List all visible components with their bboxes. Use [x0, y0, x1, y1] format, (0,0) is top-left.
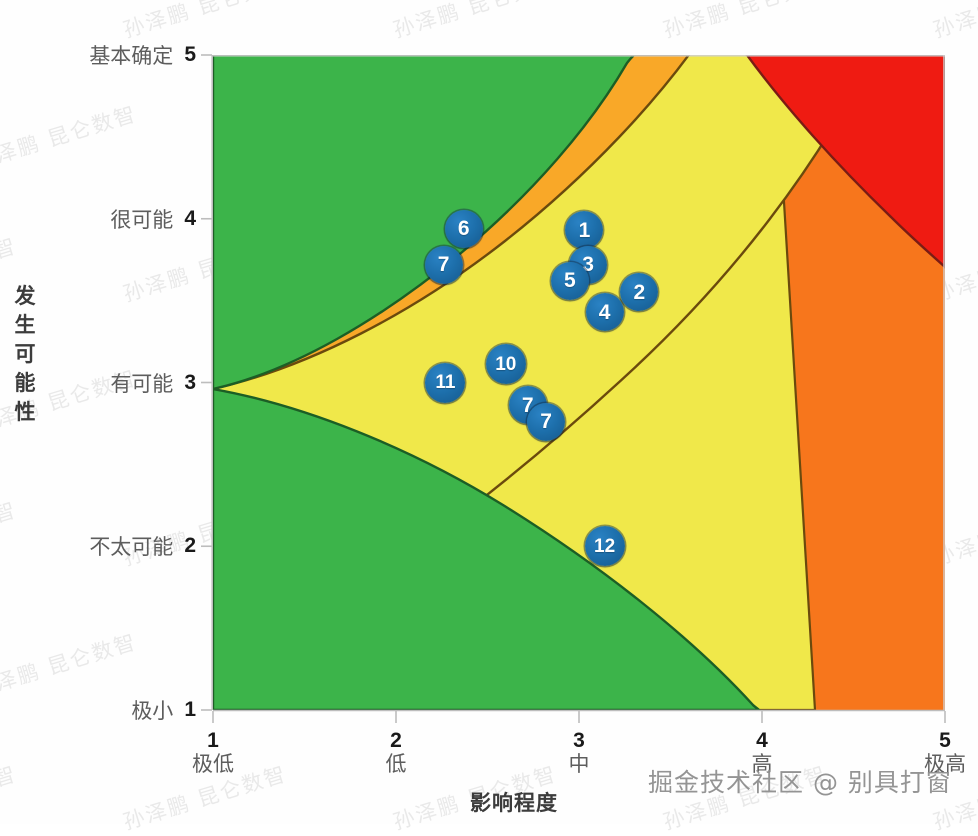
data-point-marker[interactable]: 5 — [551, 262, 589, 300]
x-tick-label-number: 1 — [143, 729, 283, 753]
risk-matrix-chart: 孙泽鹏 昆仑数智孙泽鹏 昆仑数智孙泽鹏 昆仑数智孙泽鹏 昆仑数智孙泽鹏 昆仑数智… — [0, 0, 978, 824]
data-point-marker[interactable]: 12 — [585, 526, 625, 566]
x-axis-tick-1: 1极低 — [143, 729, 283, 776]
x-tick-label-text: 极低 — [143, 753, 283, 777]
x-tick-label-text: 低 — [326, 753, 466, 777]
data-point-marker[interactable]: 6 — [445, 210, 483, 248]
x-axis-tick-2: 2低 — [326, 729, 466, 776]
data-point-marker[interactable]: 4 — [586, 293, 624, 331]
x-axis-tick-3: 3中 — [509, 729, 649, 776]
x-tick-label-text: 中 — [509, 753, 649, 777]
x-axis-title: 影响程度 — [470, 787, 558, 817]
x-tick-label-number: 2 — [326, 729, 466, 753]
data-point-marker[interactable]: 11 — [425, 363, 465, 403]
data-point-marker[interactable]: 7 — [425, 246, 463, 284]
credit-watermark: 掘金技术社区 @ 别具打窗 — [648, 763, 952, 799]
x-tick-label-number: 5 — [875, 729, 978, 753]
x-tick-label-number: 3 — [509, 729, 649, 753]
x-tick-label-number: 4 — [692, 729, 832, 753]
x-axis-tick-labels: 1极低2低3中4高5极高 — [0, 0, 978, 824]
data-point-marker[interactable]: 7 — [527, 403, 565, 441]
